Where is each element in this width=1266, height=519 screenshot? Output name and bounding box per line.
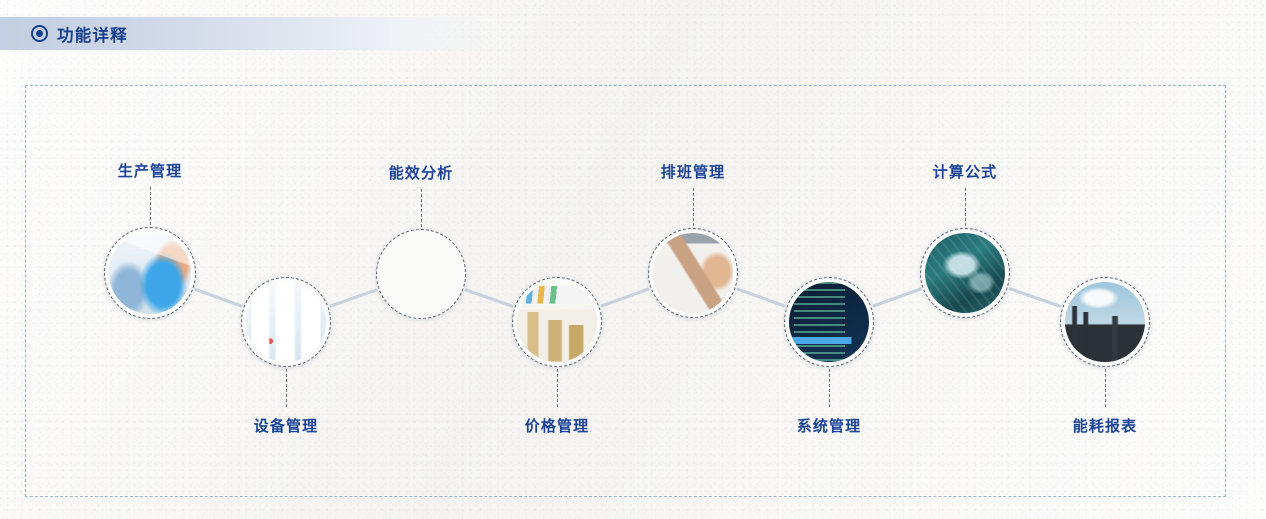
- node-label-price: 价格管理: [497, 415, 617, 436]
- control-panels-photo-equipment: [246, 282, 326, 362]
- node-label-system: 系统管理: [769, 415, 889, 436]
- node-photo-art: [517, 282, 597, 362]
- factory-stacks-photo-energy-report: [1065, 282, 1145, 362]
- node-stem-formula: [965, 188, 966, 226]
- node-stem-energy-analysis: [421, 189, 422, 227]
- node-circle-energy-report[interactable]: [1060, 277, 1150, 367]
- section-header-inner: 功能详释: [31, 22, 128, 46]
- node-stem-energy-report: [1105, 369, 1106, 407]
- lab-worker-photo-production: [109, 232, 191, 314]
- node-circle-price[interactable]: [512, 277, 602, 367]
- node-label-formula: 计算公式: [905, 161, 1025, 182]
- node-photo-art: [1065, 282, 1145, 362]
- node-label-schedule: 排班管理: [633, 161, 753, 182]
- target-circle-icon: [31, 25, 48, 42]
- node-photo-art: [246, 282, 326, 362]
- node-stem-schedule: [693, 188, 694, 226]
- node-label-equipment: 设备管理: [226, 415, 346, 436]
- page-title: 功能详释: [57, 22, 128, 46]
- node-photo-art: [789, 282, 869, 362]
- node-stem-system: [829, 369, 830, 407]
- node-stem-price: [557, 369, 558, 407]
- node-stem-equipment: [286, 369, 287, 407]
- node-circle-production[interactable]: [104, 227, 196, 319]
- section-header-bar: 功能详释: [0, 17, 492, 50]
- blue-tech-photo-energy-analysis: [381, 234, 461, 314]
- node-photo-art: [925, 233, 1005, 313]
- node-photo-art: [653, 233, 733, 313]
- node-stem-production: [150, 187, 151, 225]
- node-photo-art: [381, 234, 461, 314]
- node-label-energy-analysis: 能效分析: [361, 162, 481, 183]
- node-label-production: 生产管理: [90, 160, 210, 181]
- coin-stacks-photo-price: [517, 282, 597, 362]
- node-label-energy-report: 能耗报表: [1045, 415, 1165, 436]
- clipboard-photo-schedule: [653, 233, 733, 313]
- node-circle-system[interactable]: [784, 277, 874, 367]
- node-circle-formula[interactable]: [920, 228, 1010, 318]
- node-circle-schedule[interactable]: [648, 228, 738, 318]
- node-circle-energy-analysis[interactable]: [376, 229, 466, 319]
- node-circle-equipment[interactable]: [241, 277, 331, 367]
- teal-circuit-photo-formula: [925, 233, 1005, 313]
- node-photo-art: [109, 232, 191, 314]
- code-terminal-photo-system: [789, 282, 869, 362]
